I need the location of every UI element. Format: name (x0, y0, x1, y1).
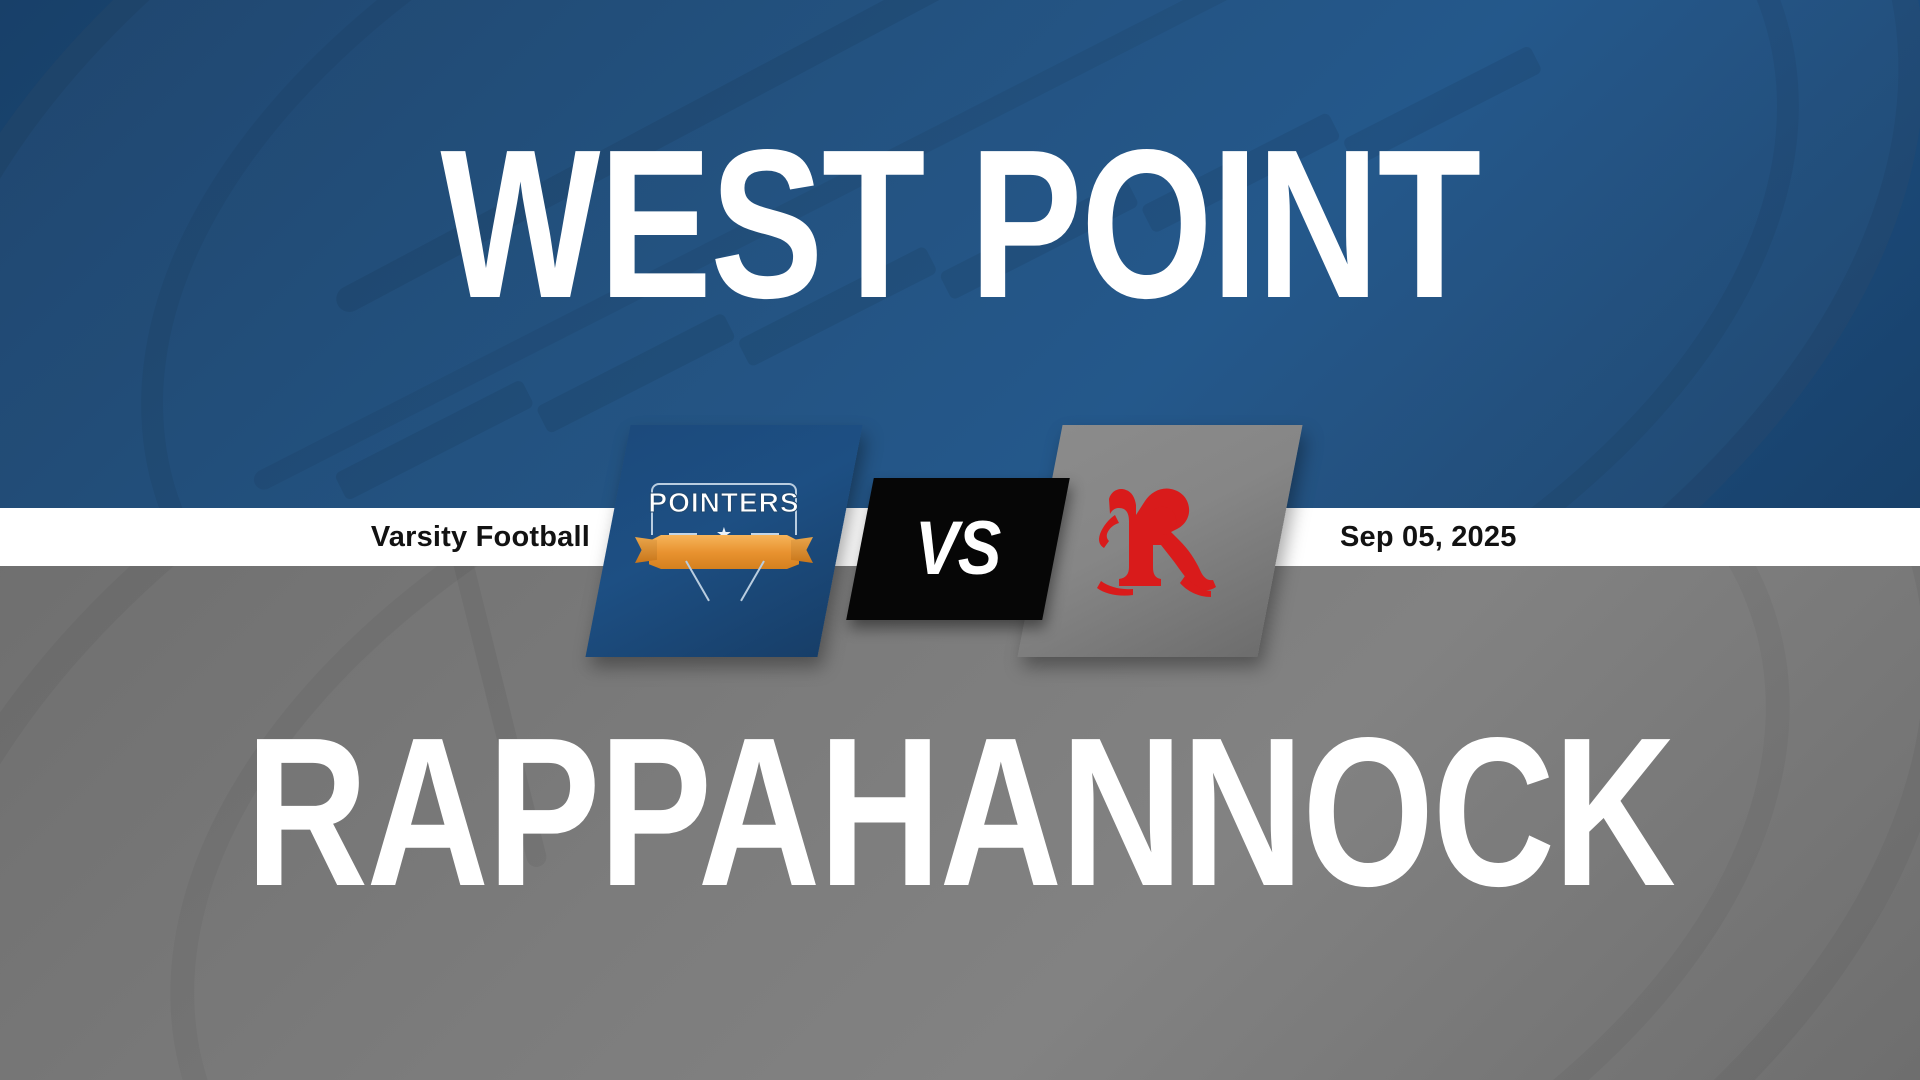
matchup-graphic: WEST POINT RAPPAHANNOCK Varsity Football… (0, 0, 1920, 1080)
rappahannock-r-monogram (1085, 471, 1235, 611)
crest-ribbon-tail-left (635, 537, 657, 563)
crest-ribbon-banner (649, 535, 799, 569)
home-logo-panel[interactable]: POINTERS ★ (585, 425, 862, 657)
home-logo-panel-inner: POINTERS ★ (608, 425, 840, 657)
away-logo-panel-inner (1040, 425, 1280, 657)
away-logo-panel[interactable] (1017, 425, 1302, 657)
blackletter-r-icon (1085, 471, 1235, 611)
pointers-crest-logo: POINTERS ★ (639, 477, 809, 605)
football-lace (334, 379, 535, 501)
home-team-name: WEST POINT (192, 118, 1728, 330)
sport-label: Varsity Football (0, 508, 600, 566)
versus-label: VS (915, 511, 1000, 587)
crest-wordmark: POINTERS (639, 487, 809, 519)
crest-ribbon-tail-right (791, 537, 813, 563)
game-date-label: Sep 05, 2025 (1330, 508, 1890, 566)
away-team-name: RAPPAHANNOCK (192, 706, 1728, 918)
versus-badge: VS (846, 478, 1070, 620)
